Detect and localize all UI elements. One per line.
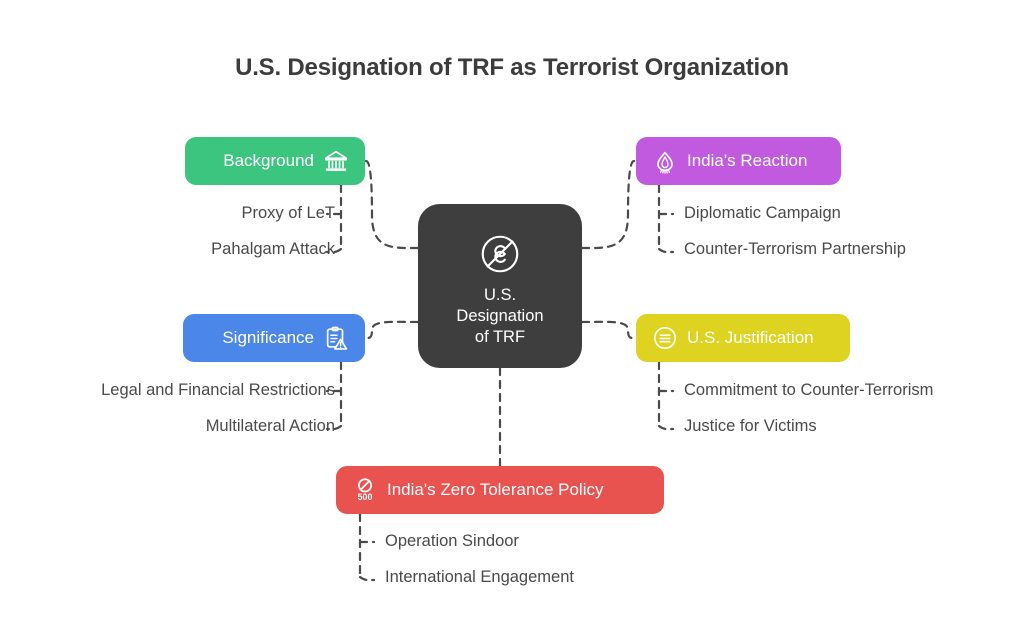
onion-bulb-icon xyxy=(652,148,678,174)
page-title: U.S. Designation of TRF as Terrorist Org… xyxy=(0,54,1024,82)
connector-center-to-background xyxy=(366,161,418,248)
connector-center-to-reaction xyxy=(582,161,634,248)
connector-justification-stub-1 xyxy=(659,426,673,429)
center-node-line-3: of TRF xyxy=(456,327,543,348)
sub-item-justification-1: Justice for Victims xyxy=(684,417,817,436)
connector-center-to-significance xyxy=(366,322,418,338)
sub-item-zero-tolerance-0: Operation Sindoor xyxy=(385,532,519,551)
sub-item-reaction-1: Counter-Terrorism Partnership xyxy=(684,240,906,259)
branch-node-zero-tolerance[interactable]: 500 India's Zero Tolerance Policy xyxy=(336,466,664,514)
no-copyright-icon xyxy=(477,231,523,277)
center-node-label: U.S. Designation of TRF xyxy=(456,285,543,348)
center-node[interactable]: U.S. Designation of TRF xyxy=(418,204,582,368)
branch-node-background[interactable]: Background xyxy=(185,137,365,185)
sub-item-reaction-0: Diplomatic Campaign xyxy=(684,204,841,223)
sub-item-background-1: Pahalgam Attack xyxy=(211,240,335,259)
branch-node-reaction-label: India's Reaction xyxy=(687,151,807,171)
svg-text:500: 500 xyxy=(358,492,373,502)
sub-item-background-0: Proxy of LeT xyxy=(241,204,335,223)
connector-zero-tolerance-stub-1 xyxy=(360,577,374,580)
sub-item-significance-0: Legal and Financial Restrictions xyxy=(101,381,335,400)
sub-item-justification-0: Commitment to Counter-Terrorism xyxy=(684,381,933,400)
connector-reaction-stub-1 xyxy=(659,249,673,252)
branch-node-reaction[interactable]: India's Reaction xyxy=(636,137,841,185)
sub-item-zero-tolerance-1: International Engagement xyxy=(385,568,574,587)
center-node-line-1: U.S. xyxy=(456,285,543,306)
branch-node-justification[interactable]: U.S. Justification xyxy=(636,314,850,362)
no-500-note-icon: 500 xyxy=(352,477,378,503)
branch-node-significance-label: Significance xyxy=(222,328,314,348)
branch-node-zero-tolerance-label: India's Zero Tolerance Policy xyxy=(387,480,603,500)
branch-node-background-label: Background xyxy=(223,151,314,171)
clipboard-warning-icon xyxy=(323,325,349,351)
sub-item-significance-1: Multilateral Action xyxy=(206,417,335,436)
branch-node-justification-label: U.S. Justification xyxy=(687,328,814,348)
connector-center-to-justification xyxy=(582,322,634,338)
circled-lines-icon xyxy=(652,325,678,351)
mindmap-canvas: U.S. Designation of TRF as Terrorist Org… xyxy=(0,0,1024,640)
bank-building-icon xyxy=(323,148,349,174)
center-node-line-2: Designation xyxy=(456,306,543,327)
branch-node-significance[interactable]: Significance xyxy=(183,314,365,362)
